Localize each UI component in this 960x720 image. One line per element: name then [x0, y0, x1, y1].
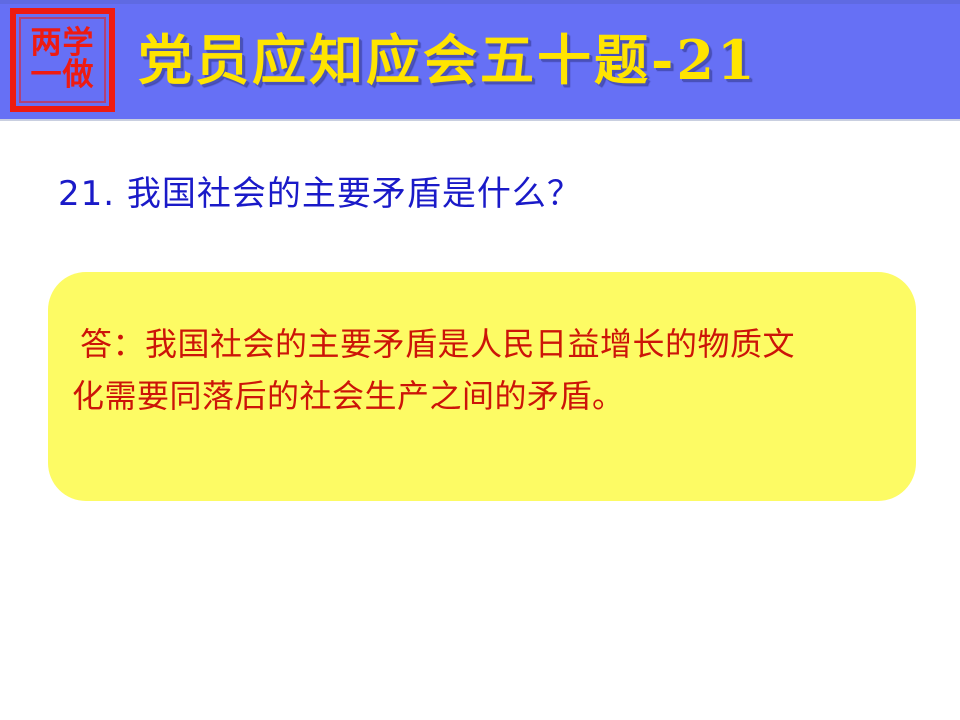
two-studies-one-action-seal-logo: 两学 一做 [10, 8, 115, 112]
answer-line-1: 答：我国社会的主要矛盾是人民日益增长的物质文 [72, 318, 910, 370]
slide-blank-area [0, 505, 960, 720]
seal-text-line-2: 一做 [31, 60, 95, 92]
question-text: 21. 我国社会的主要矛盾是什么？ [58, 172, 582, 216]
answer-line-2: 化需要同落后的社会生产之间的矛盾。 [72, 370, 910, 422]
header-top-accent-strip [0, 0, 960, 4]
header-divider-rule [0, 119, 960, 121]
answer-text-block: 答：我国社会的主要矛盾是人民日益增长的物质文 化需要同落后的社会生产之间的矛盾。 [72, 318, 910, 422]
header-band: 两学 一做 党员应知应会五十题-21 [0, 0, 960, 119]
answer-card: 答：我国社会的主要矛盾是人民日益增长的物质文 化需要同落后的社会生产之间的矛盾。 [48, 272, 916, 501]
slide-title: 党员应知应会五十题-21 [138, 24, 758, 96]
seal-text-line-1: 两学 [31, 28, 95, 60]
